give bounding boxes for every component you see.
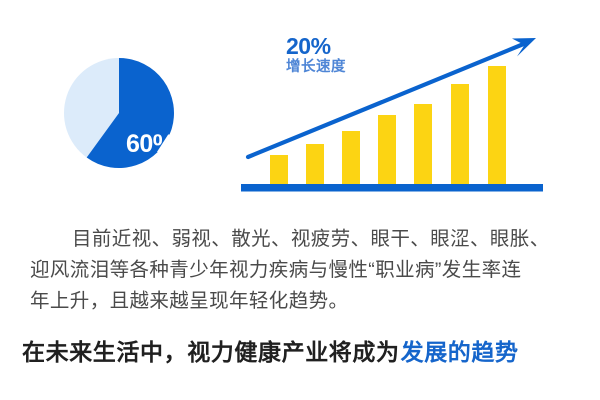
chart-baseline xyxy=(241,184,543,192)
headline: 在未来生活中，视力健康产业将成为发展的趋势 xyxy=(22,338,519,367)
bar-2 xyxy=(306,144,324,184)
bar-3 xyxy=(342,131,360,184)
infographic-band: 60% 20% 增长速度 xyxy=(0,0,600,212)
bar-5 xyxy=(414,104,432,184)
bar-6 xyxy=(451,84,469,184)
growth-caption-label: 增长速度 xyxy=(286,60,346,76)
pie-value-label: 60% xyxy=(126,132,175,157)
bar-series xyxy=(270,66,506,184)
body-paragraph: 目前近视、弱视、散光、视疲劳、眼干、眼涩、眼胀、 迎风流泪等各种青少年视力疾病与… xyxy=(30,224,575,317)
body-line-1: 目前近视、弱视、散光、视疲劳、眼干、眼涩、眼胀、 xyxy=(30,224,575,255)
bar-4 xyxy=(378,115,396,184)
headline-normal-text: 在未来生活中，视力健康产业将成为 xyxy=(22,339,400,365)
body-line-3: 年上升，且越来越呈现年轻化趋势。 xyxy=(30,286,575,317)
bar-chart xyxy=(236,26,548,196)
bar-7 xyxy=(488,66,506,184)
growth-callout: 20% 增长速度 xyxy=(286,34,346,75)
bar-1 xyxy=(270,155,288,184)
growth-percent-value: 20% xyxy=(286,34,346,59)
body-line-2: 迎风流泪等各种青少年视力疾病与慢性“职业病”发生率连 xyxy=(30,255,575,286)
headline-accent-text: 发展的趋势 xyxy=(401,339,519,365)
